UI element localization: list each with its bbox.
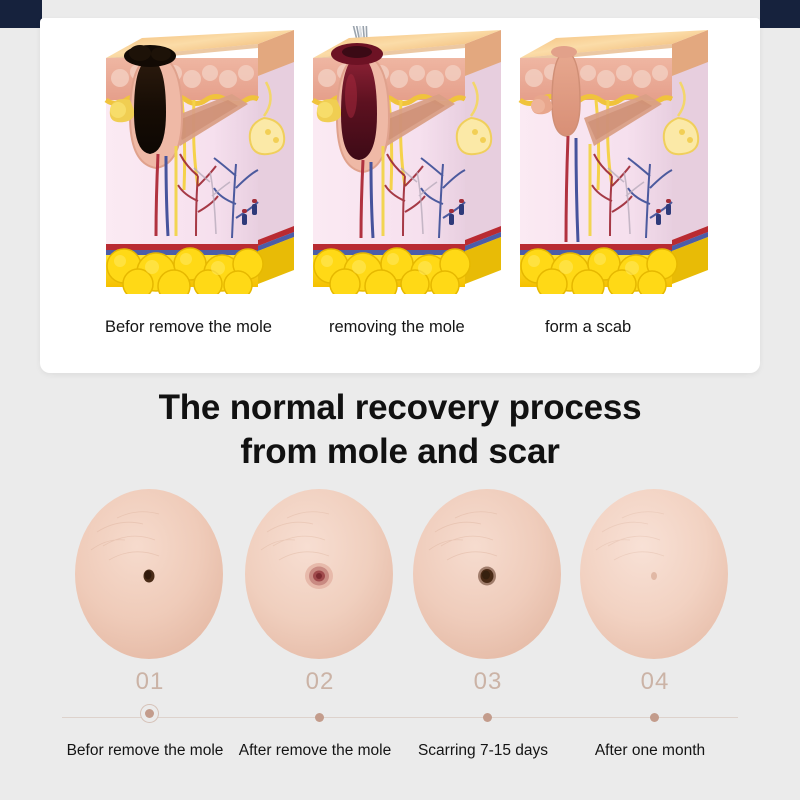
step-dot-03[interactable] — [483, 713, 492, 722]
timeline-track — [62, 717, 738, 718]
recovery-timeline: 01 02 03 04 — [0, 672, 800, 732]
skin-cross-section-removing-icon — [305, 26, 510, 294]
step-number-03: 03 — [448, 668, 528, 696]
panel-caption-3: form a scab — [545, 318, 631, 337]
skin-cross-section-mole-icon — [98, 26, 303, 294]
panel-caption-2: removing the mole — [329, 318, 465, 337]
step-number-02: 02 — [280, 668, 360, 696]
page-title-line-2: from mole and scar — [0, 430, 800, 474]
navy-corner-right — [760, 0, 800, 28]
panel-captions-group: Befor remove the mole removing the mole … — [40, 318, 760, 348]
panel-caption-1: Befor remove the mole — [105, 318, 272, 337]
skin-panels-group — [40, 18, 760, 308]
step-number-04: 04 — [615, 668, 695, 696]
page-title-line-1: The normal recovery process — [0, 386, 800, 430]
page-title: The normal recovery process from mole an… — [0, 386, 800, 474]
step-dot-02[interactable] — [315, 713, 324, 722]
navy-corner-left — [0, 0, 42, 28]
recovery-caption-4: After one month — [550, 742, 750, 760]
recovery-captions-group: Befor remove the mole After remove the m… — [0, 742, 800, 772]
skin-cross-section-scab-icon — [512, 26, 717, 294]
step-dot-01[interactable] — [145, 709, 154, 718]
skin-circle-wound-icon — [243, 488, 395, 660]
skin-circle-mole-icon — [73, 488, 225, 660]
page-root: Befor remove the mole removing the mole … — [0, 0, 800, 800]
step-dot-04[interactable] — [650, 713, 659, 722]
skin-circle-scab-icon — [411, 488, 563, 660]
step-number-01: 01 — [110, 668, 190, 696]
recovery-circles-group — [0, 488, 800, 668]
skin-circle-healed-icon — [578, 488, 730, 660]
